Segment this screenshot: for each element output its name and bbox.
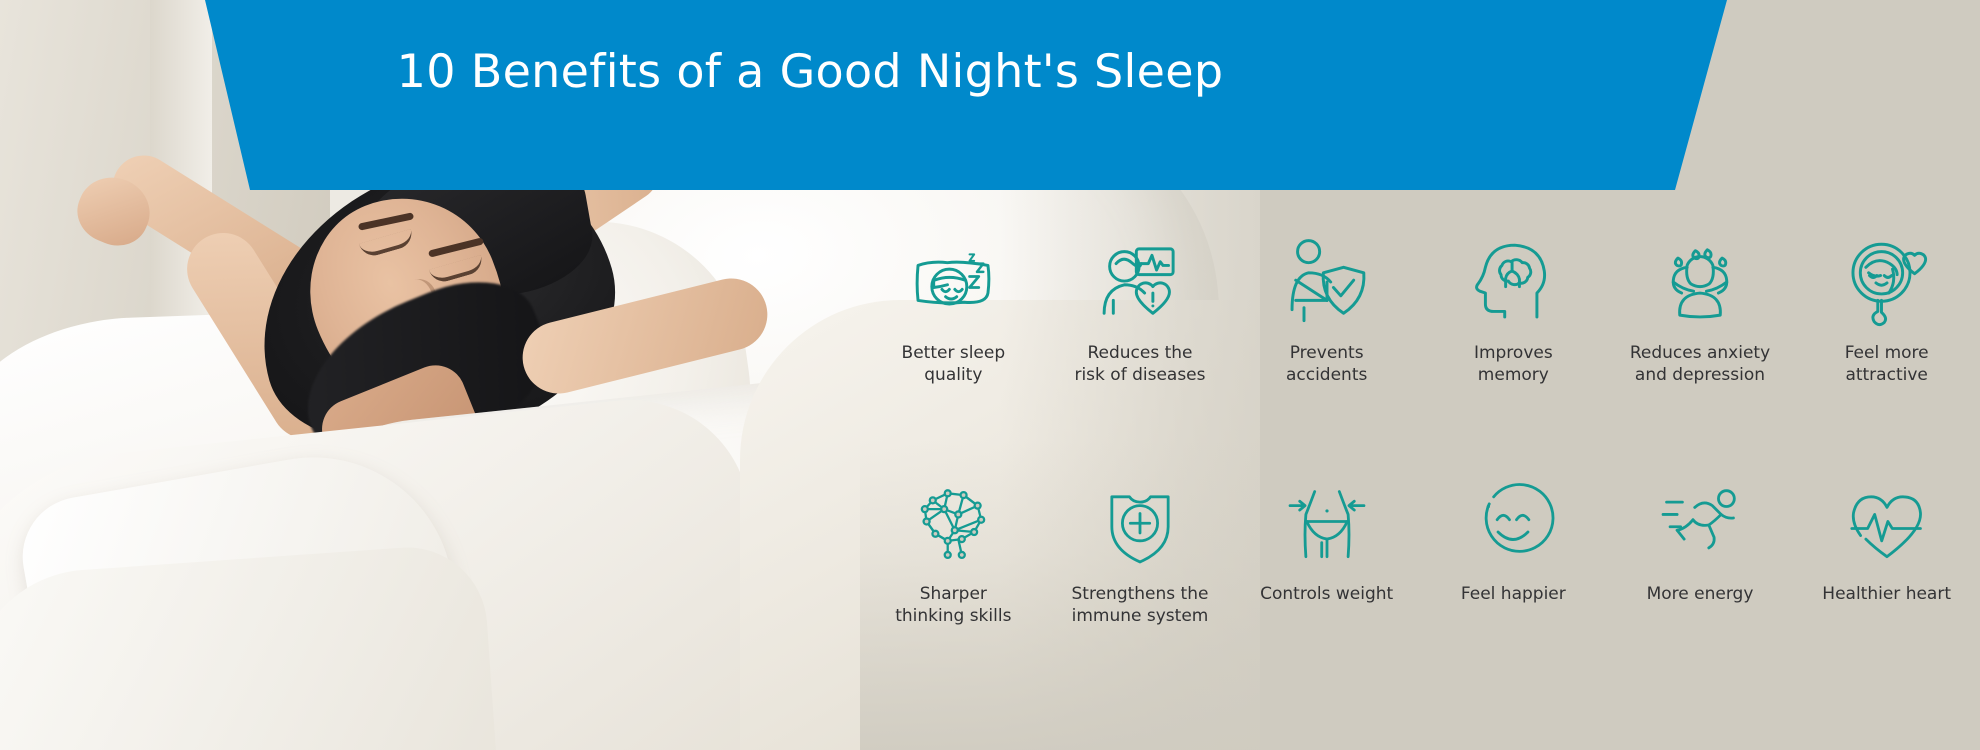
- benefit-label: Reduces the risk of diseases: [1074, 342, 1205, 387]
- benefit-label-line1: Better sleep: [902, 343, 1006, 363]
- benefit-label: Sharper thinking skills: [895, 583, 1011, 628]
- benefit-label: Better sleep quality: [902, 342, 1006, 387]
- benefit-item-controls-weight[interactable]: Controls weight: [1233, 475, 1420, 710]
- benefit-label-line1: Improves: [1474, 343, 1553, 363]
- benefit-item-better-sleep-quality[interactable]: Better sleep quality: [860, 230, 1047, 465]
- benefit-label: Controls weight: [1260, 583, 1393, 605]
- benefit-label: Improves memory: [1474, 342, 1553, 387]
- benefit-label-line1: Prevents: [1290, 343, 1364, 363]
- sleeping-face-pillow-icon: [907, 236, 999, 328]
- neural-network-brain-icon: [909, 481, 997, 569]
- benefit-label: More energy: [1647, 583, 1754, 605]
- benefit-label-line2: accidents: [1286, 365, 1367, 385]
- benefit-label-line2: immune system: [1072, 606, 1209, 626]
- benefit-label-line2: quality: [924, 365, 982, 385]
- benefits-grid: Better sleep quality Re: [860, 230, 1980, 710]
- page-title: 10 Benefits of a Good Night's Sleep: [0, 44, 1620, 98]
- benefit-label: Feel more attractive: [1845, 342, 1929, 387]
- benefit-item-strengthens-immune-system[interactable]: Strengthens the immune system: [1047, 475, 1234, 710]
- benefit-label: Feel happier: [1461, 583, 1566, 605]
- benefit-item-feel-happier[interactable]: Feel happier: [1420, 475, 1607, 710]
- benefit-label: Prevents accidents: [1286, 342, 1367, 387]
- benefit-label-line1: Feel more: [1845, 343, 1929, 363]
- head-brain-icon: [1467, 236, 1559, 328]
- benefit-label-line1: Feel happier: [1461, 584, 1566, 604]
- benefit-item-more-energy[interactable]: More energy: [1607, 475, 1794, 710]
- benefit-item-improves-memory[interactable]: Improves memory: [1420, 230, 1607, 465]
- benefit-label: Strengthens the immune system: [1072, 583, 1209, 628]
- benefit-label-line1: Strengthens the: [1072, 584, 1209, 604]
- benefit-label-line1: More energy: [1647, 584, 1754, 604]
- benefit-label-line2: thinking skills: [895, 606, 1011, 626]
- smiley-face-icon: [1469, 481, 1557, 569]
- benefit-label: Healthier heart: [1822, 583, 1951, 605]
- photo-sheet-fold-b: [0, 542, 497, 750]
- title-banner: 10 Benefits of a Good Night's Sleep: [0, 0, 1980, 200]
- benefit-item-sharper-thinking-skills[interactable]: Sharper thinking skills: [860, 475, 1047, 710]
- benefit-item-reduces-risk-of-diseases[interactable]: Reduces the risk of diseases: [1047, 230, 1234, 465]
- benefit-label-line1: Reduces the: [1087, 343, 1192, 363]
- benefit-item-feel-more-attractive[interactable]: Feel more attractive: [1793, 230, 1980, 465]
- person-heart-monitor-icon: [1094, 236, 1186, 328]
- title-banner-shape: [0, 0, 1980, 200]
- benefit-label-line1: Controls weight: [1260, 584, 1393, 604]
- arm-sling-shield-check-icon: [1281, 236, 1373, 328]
- benefit-item-healthier-heart[interactable]: Healthier heart: [1793, 475, 1980, 710]
- benefit-label-line1: Sharper: [920, 584, 987, 604]
- shield-plus-icon: [1096, 481, 1184, 569]
- stressed-person-icon: [1654, 236, 1746, 328]
- benefit-label-line2: memory: [1478, 365, 1549, 385]
- benefit-label-line2: and depression: [1635, 365, 1765, 385]
- benefit-label: Reduces anxiety and depression: [1630, 342, 1770, 387]
- benefit-label-line2: risk of diseases: [1074, 365, 1205, 385]
- benefit-label-line1: Reduces anxiety: [1630, 343, 1770, 363]
- benefit-item-prevents-accidents[interactable]: Prevents accidents: [1233, 230, 1420, 465]
- benefit-label-line2: attractive: [1845, 365, 1927, 385]
- benefit-label-line1: Healthier heart: [1822, 584, 1951, 604]
- heart-ekg-icon: [1843, 481, 1931, 569]
- benefit-item-reduces-anxiety-and-depression[interactable]: Reduces anxiety and depression: [1607, 230, 1794, 465]
- running-person-icon: [1656, 481, 1744, 569]
- infographic-stage: 10 Benefits of a Good Night's Sleep: [0, 0, 1980, 750]
- hand-mirror-heart-icon: [1841, 236, 1933, 328]
- waist-arrows-icon: [1283, 481, 1371, 569]
